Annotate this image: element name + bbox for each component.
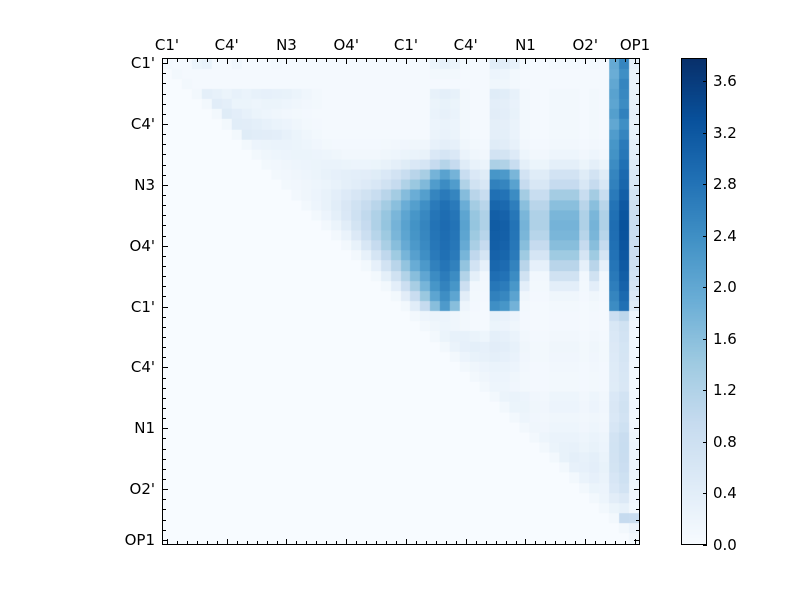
- y-tick-label: OP1: [110, 531, 155, 549]
- y-tick: [636, 175, 640, 176]
- colorbar-tick: [703, 287, 707, 288]
- x-tick: [486, 58, 487, 62]
- x-tick: [187, 541, 188, 545]
- y-tick: [636, 418, 640, 419]
- y-tick: [636, 195, 640, 196]
- colorbar-tick-label: 0.8: [713, 433, 737, 451]
- heatmap-image: [163, 59, 639, 544]
- y-tick: [162, 266, 166, 267]
- y-tick: [162, 205, 166, 206]
- y-tick: [636, 327, 640, 328]
- y-tick: [636, 114, 640, 115]
- y-tick: [162, 337, 166, 338]
- y-tick: [162, 165, 166, 166]
- x-tick: [217, 58, 218, 62]
- y-tick: [162, 256, 166, 257]
- colorbar-tick: [703, 339, 707, 340]
- y-tick: [162, 317, 166, 318]
- x-tick: [306, 58, 307, 62]
- y-tick: [162, 144, 166, 145]
- x-tick: [585, 539, 586, 545]
- x-tick: [257, 58, 258, 62]
- x-tick: [177, 541, 178, 545]
- x-tick: [356, 58, 357, 62]
- x-tick: [446, 58, 447, 62]
- x-tick: [516, 58, 517, 62]
- colorbar-tick: [703, 390, 707, 391]
- y-tick: [636, 499, 640, 500]
- x-tick: [456, 541, 457, 545]
- y-tick: [636, 256, 640, 257]
- y-tick: [162, 388, 166, 389]
- y-tick: [162, 540, 168, 541]
- y-tick: [162, 195, 166, 196]
- x-tick: [386, 541, 387, 545]
- y-tick: [162, 215, 166, 216]
- x-tick: [227, 539, 228, 545]
- y-tick: [162, 246, 168, 247]
- x-tick-label: OP1: [620, 36, 650, 54]
- x-tick-label: C1': [155, 36, 179, 54]
- x-tick: [326, 58, 327, 62]
- x-tick: [237, 541, 238, 545]
- y-tick: [636, 225, 640, 226]
- y-tick: [162, 408, 166, 409]
- x-tick: [585, 58, 586, 64]
- y-tick: [162, 438, 166, 439]
- y-tick: [634, 307, 640, 308]
- y-tick: [636, 530, 640, 531]
- y-tick: [634, 489, 640, 490]
- y-tick-label: C4': [110, 358, 155, 376]
- y-tick: [162, 530, 166, 531]
- x-tick: [316, 58, 317, 62]
- x-tick: [595, 58, 596, 62]
- colorbar-tick-label: 2.4: [713, 227, 737, 245]
- matplotlib-figure: C1'C4'N3O4'C1'C4'N1O2'OP1 C1'C4'N3O4'C1'…: [0, 0, 800, 600]
- colorbar-tick-label: 0.0: [713, 536, 737, 554]
- colorbar-tick-label: 2.8: [713, 175, 737, 193]
- y-tick: [636, 337, 640, 338]
- x-tick: [177, 58, 178, 62]
- x-tick: [346, 58, 347, 64]
- x-tick: [525, 58, 526, 64]
- colorbar-tick-label: 3.6: [713, 72, 737, 90]
- x-tick: [366, 541, 367, 545]
- x-tick: [466, 58, 467, 64]
- y-tick: [636, 520, 640, 521]
- x-tick: [575, 58, 576, 62]
- x-tick: [605, 541, 606, 545]
- colorbar-tick-label: 0.4: [713, 484, 737, 502]
- x-tick: [267, 541, 268, 545]
- x-tick: [277, 58, 278, 62]
- y-tick: [636, 408, 640, 409]
- y-tick: [636, 73, 640, 74]
- y-tick: [636, 266, 640, 267]
- y-tick: [636, 449, 640, 450]
- x-tick: [615, 58, 616, 62]
- x-tick: [296, 541, 297, 545]
- y-tick: [162, 418, 166, 419]
- x-tick-label: N3: [276, 36, 297, 54]
- x-tick: [446, 541, 447, 545]
- y-tick: [162, 520, 166, 521]
- colorbar: [681, 58, 707, 545]
- y-tick: [162, 104, 166, 105]
- x-tick: [426, 541, 427, 545]
- x-tick-label: O4': [333, 36, 358, 54]
- x-tick: [366, 58, 367, 62]
- y-tick: [636, 317, 640, 318]
- x-tick: [535, 58, 536, 62]
- y-tick: [636, 347, 640, 348]
- y-tick: [162, 428, 168, 429]
- x-tick: [227, 58, 228, 64]
- colorbar-tick: [703, 184, 707, 185]
- x-tick: [625, 58, 626, 62]
- x-tick: [575, 541, 576, 545]
- y-tick: [636, 469, 640, 470]
- y-tick: [162, 357, 166, 358]
- y-tick: [636, 357, 640, 358]
- x-tick-label: C4': [215, 36, 239, 54]
- y-tick-label: C1': [110, 54, 155, 72]
- colorbar-tick: [703, 493, 707, 494]
- y-tick: [162, 175, 166, 176]
- y-tick: [162, 236, 166, 237]
- y-tick: [162, 63, 168, 64]
- y-tick-label: N3: [110, 176, 155, 194]
- colorbar-tick: [703, 133, 707, 134]
- y-tick: [636, 296, 640, 297]
- x-tick: [615, 541, 616, 545]
- x-tick: [496, 58, 497, 62]
- x-tick: [496, 541, 497, 545]
- y-tick: [162, 459, 166, 460]
- x-tick: [426, 58, 427, 62]
- y-tick: [636, 509, 640, 510]
- y-tick: [636, 459, 640, 460]
- y-tick: [162, 449, 166, 450]
- heatmap-axes: [162, 58, 640, 545]
- x-tick: [306, 541, 307, 545]
- colorbar-tick-label: 1.6: [713, 330, 737, 348]
- y-tick: [162, 94, 166, 95]
- y-tick: [162, 83, 166, 84]
- x-tick: [207, 541, 208, 545]
- y-tick: [636, 398, 640, 399]
- x-tick: [565, 58, 566, 62]
- x-tick: [197, 541, 198, 545]
- y-tick-label: N1: [110, 419, 155, 437]
- x-tick: [396, 541, 397, 545]
- y-tick: [162, 509, 166, 510]
- x-tick: [625, 541, 626, 545]
- x-tick: [416, 541, 417, 545]
- x-tick: [356, 541, 357, 545]
- x-tick: [286, 58, 287, 64]
- x-tick: [396, 58, 397, 62]
- x-tick: [376, 541, 377, 545]
- x-tick: [316, 541, 317, 545]
- x-tick: [286, 539, 287, 545]
- y-tick: [162, 134, 166, 135]
- x-tick: [486, 541, 487, 545]
- y-tick: [634, 540, 640, 541]
- y-tick: [162, 479, 166, 480]
- x-tick-label: C1': [394, 36, 418, 54]
- y-tick: [162, 124, 168, 125]
- y-tick: [162, 489, 168, 490]
- x-tick: [535, 541, 536, 545]
- x-tick: [217, 541, 218, 545]
- y-tick: [634, 428, 640, 429]
- y-tick: [636, 104, 640, 105]
- colorbar-tick-label: 1.2: [713, 381, 737, 399]
- y-tick-label: O4': [110, 237, 155, 255]
- y-tick: [162, 296, 166, 297]
- y-tick-label: C4': [110, 115, 155, 133]
- y-tick: [162, 327, 166, 328]
- y-tick: [162, 469, 166, 470]
- y-tick: [636, 378, 640, 379]
- x-tick: [416, 58, 417, 62]
- y-tick: [162, 378, 166, 379]
- y-tick-label: O2': [110, 480, 155, 498]
- x-tick: [207, 58, 208, 62]
- y-tick: [636, 154, 640, 155]
- y-tick: [636, 144, 640, 145]
- y-tick: [162, 73, 166, 74]
- y-tick: [636, 236, 640, 237]
- x-tick: [247, 58, 248, 62]
- y-tick: [162, 307, 168, 308]
- y-tick: [634, 124, 640, 125]
- x-tick: [516, 541, 517, 545]
- x-tick: [476, 58, 477, 62]
- x-tick: [336, 541, 337, 545]
- y-tick: [636, 165, 640, 166]
- x-tick: [456, 58, 457, 62]
- x-tick: [237, 58, 238, 62]
- x-tick: [436, 58, 437, 62]
- x-tick-label: C4': [454, 36, 478, 54]
- y-tick: [162, 154, 166, 155]
- x-tick: [476, 541, 477, 545]
- colorbar-tick: [703, 545, 707, 546]
- x-tick: [346, 539, 347, 545]
- y-tick: [636, 205, 640, 206]
- y-tick: [636, 438, 640, 439]
- y-tick: [162, 114, 166, 115]
- y-tick: [636, 83, 640, 84]
- x-tick: [555, 58, 556, 62]
- x-tick: [187, 58, 188, 62]
- x-tick: [406, 539, 407, 545]
- x-tick: [197, 58, 198, 62]
- x-tick: [545, 541, 546, 545]
- x-tick: [545, 58, 546, 62]
- x-tick: [555, 541, 556, 545]
- y-tick: [162, 367, 168, 368]
- y-tick: [162, 347, 166, 348]
- x-tick: [466, 539, 467, 545]
- y-tick: [636, 479, 640, 480]
- x-tick: [406, 58, 407, 64]
- x-tick: [436, 541, 437, 545]
- y-tick: [162, 286, 166, 287]
- colorbar-tick: [703, 81, 707, 82]
- x-tick: [386, 58, 387, 62]
- colorbar-tick: [703, 442, 707, 443]
- x-tick-label: N1: [515, 36, 536, 54]
- y-tick: [636, 388, 640, 389]
- y-tick: [634, 246, 640, 247]
- colorbar-gradient: [682, 59, 706, 544]
- x-tick-label: O2': [572, 36, 597, 54]
- y-tick: [636, 215, 640, 216]
- colorbar-tick-label: 3.2: [713, 124, 737, 142]
- x-tick: [595, 541, 596, 545]
- x-tick: [506, 58, 507, 62]
- y-tick: [162, 225, 166, 226]
- y-tick: [162, 185, 168, 186]
- y-tick: [636, 94, 640, 95]
- y-tick: [634, 185, 640, 186]
- y-tick: [636, 276, 640, 277]
- x-tick: [296, 58, 297, 62]
- colorbar-tick: [703, 236, 707, 237]
- y-tick: [636, 286, 640, 287]
- x-tick: [277, 541, 278, 545]
- x-tick: [376, 58, 377, 62]
- x-tick: [605, 58, 606, 62]
- y-tick-label: C1': [110, 298, 155, 316]
- y-tick: [162, 276, 166, 277]
- x-tick: [326, 541, 327, 545]
- x-tick: [525, 539, 526, 545]
- x-tick: [565, 541, 566, 545]
- y-tick: [634, 367, 640, 368]
- x-tick: [257, 541, 258, 545]
- colorbar-tick-label: 2.0: [713, 278, 737, 296]
- x-tick: [506, 541, 507, 545]
- x-tick: [247, 541, 248, 545]
- x-tick: [267, 58, 268, 62]
- y-tick: [162, 398, 166, 399]
- y-tick: [634, 63, 640, 64]
- x-tick: [336, 58, 337, 62]
- y-tick: [162, 499, 166, 500]
- y-tick: [636, 134, 640, 135]
